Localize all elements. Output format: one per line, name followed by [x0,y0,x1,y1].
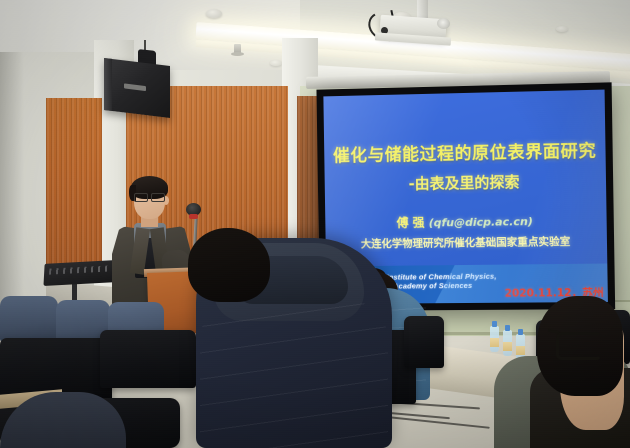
water-bottle [503,330,512,356]
presentation-room-photo: 催化与储能过程的原位表界面研究 -由表及里的探索 傅 强 (qfu@dicp.a… [0,0,630,448]
yamaha-ceiling-speaker-icon [104,58,170,118]
slide-subtitle: -由表及里的探索 [325,169,607,195]
wood-panel-left [46,98,102,268]
chair-black[interactable] [404,316,444,368]
glasses-icon [556,332,602,360]
chair-black[interactable] [100,330,196,388]
slide-affiliation: 大连化学物理研究所催化基础国家重点实验室 [326,233,608,251]
chair-blue[interactable] [0,296,58,342]
slide-title: 催化与储能过程的原位表界面研究 [324,136,606,166]
attendee-head-navy [188,228,270,302]
smoke-detector-icon [556,26,568,32]
navy-jacket-quilting [200,300,388,448]
projector-mount [417,0,428,18]
smoke-detector-icon [270,60,282,66]
smoke-detector-icon [206,9,222,18]
water-bottle [490,326,499,352]
slide-author-line: 傅 强 (qfu@dicp.ac.cn) [325,211,607,232]
glasses-icon [134,193,165,200]
slide-author-name: 傅 强 [397,216,425,230]
slide-author-email: (qfu@dicp.ac.cn) [429,215,533,229]
speaker-brand-badge [124,83,146,91]
audio-mixer-icon [43,260,116,286]
sprinkler-head-icon [234,44,241,55]
microphone-indicator [189,214,198,219]
